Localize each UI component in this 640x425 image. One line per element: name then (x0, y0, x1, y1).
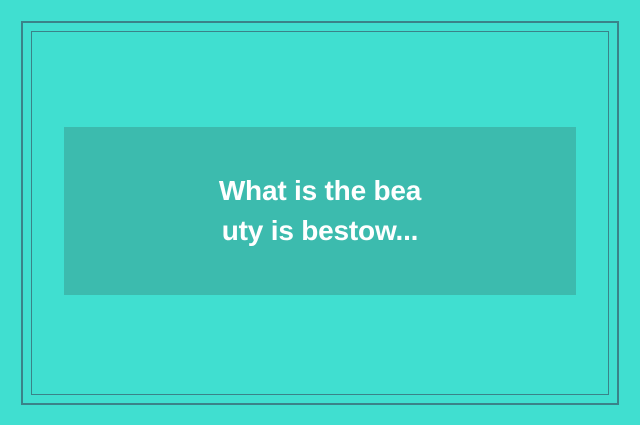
quote-line-2: uty is bestow... (222, 211, 418, 251)
quote-banner: What is the bea uty is bestow... (64, 127, 576, 295)
quote-card-canvas: What is the bea uty is bestow... (0, 0, 640, 425)
quote-line-1: What is the bea (219, 171, 421, 211)
